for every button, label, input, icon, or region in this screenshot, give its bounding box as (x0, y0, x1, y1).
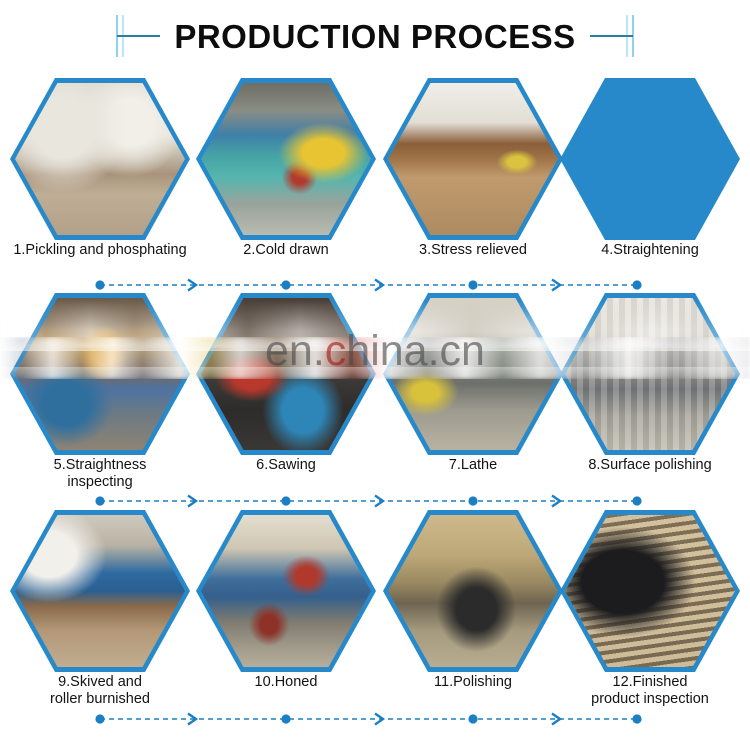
process-row-2: 5.Straightness inspecting 6.Sawing (0, 293, 750, 471)
process-connector-row-2 (0, 494, 750, 508)
process-step-3[interactable]: 3.Stress relieved (383, 78, 563, 256)
hexagon-frame (196, 510, 376, 672)
process-step-9[interactable]: 9.Skived and roller burnished (10, 510, 190, 688)
process-connector-row-3 (0, 712, 750, 726)
hexagon-frame (383, 510, 563, 672)
step-label: 12.Finished product inspection (546, 674, 750, 708)
process-step-11[interactable]: 11.Polishing (383, 510, 563, 688)
hexagon-frame (560, 78, 740, 240)
process-connector-row-1 (0, 278, 750, 292)
process-step-10[interactable]: 10.Honed (196, 510, 376, 688)
page-title: PRODUCTION PROCESS (160, 20, 589, 53)
step-label: 9.Skived and roller burnished (0, 674, 204, 708)
process-step-12[interactable]: 12.Finished product inspection (560, 510, 740, 688)
hexagon-frame (383, 293, 563, 455)
hexagon-frame (10, 510, 190, 672)
process-step-1[interactable]: 1.Pickling and phosphating (10, 78, 190, 256)
hexagon-frame (196, 78, 376, 240)
title-bracket-right-icon (590, 13, 636, 59)
hexagon-frame (383, 78, 563, 240)
step-label: 6.Sawing (182, 457, 390, 474)
hexagon-frame (196, 293, 376, 455)
process-step-4[interactable]: 4.Straightening (560, 78, 740, 256)
process-row-3: 9.Skived and roller burnished 10.Honed (0, 510, 750, 688)
title-bracket-left-icon (114, 13, 160, 59)
hexagon-frame (560, 293, 740, 455)
process-step-6[interactable]: 6.Sawing (196, 293, 376, 471)
step-label: 2.Cold drawn (182, 242, 390, 259)
step-label: 1.Pickling and phosphating (0, 242, 204, 259)
hexagon-frame (10, 78, 190, 240)
production-process-infographic: PRODUCTION PROCESS 1.Pickling and phosph… (0, 0, 750, 740)
step-label: 4.Straightening (546, 242, 750, 259)
page-header: PRODUCTION PROCESS (0, 0, 750, 72)
process-row-1: 1.Pickling and phosphating 2.Cold drawn (0, 78, 750, 256)
step-label: 5.Straightness inspecting (0, 457, 204, 491)
step-label: 8.Surface polishing (546, 457, 750, 474)
process-step-8[interactable]: 8.Surface polishing (560, 293, 740, 471)
process-step-7[interactable]: 7.Lathe (383, 293, 563, 471)
hexagon-frame (560, 510, 740, 672)
hexagon-frame (10, 293, 190, 455)
process-step-5[interactable]: 5.Straightness inspecting (10, 293, 190, 471)
process-step-2[interactable]: 2.Cold drawn (196, 78, 376, 256)
step-label: 10.Honed (182, 674, 390, 691)
